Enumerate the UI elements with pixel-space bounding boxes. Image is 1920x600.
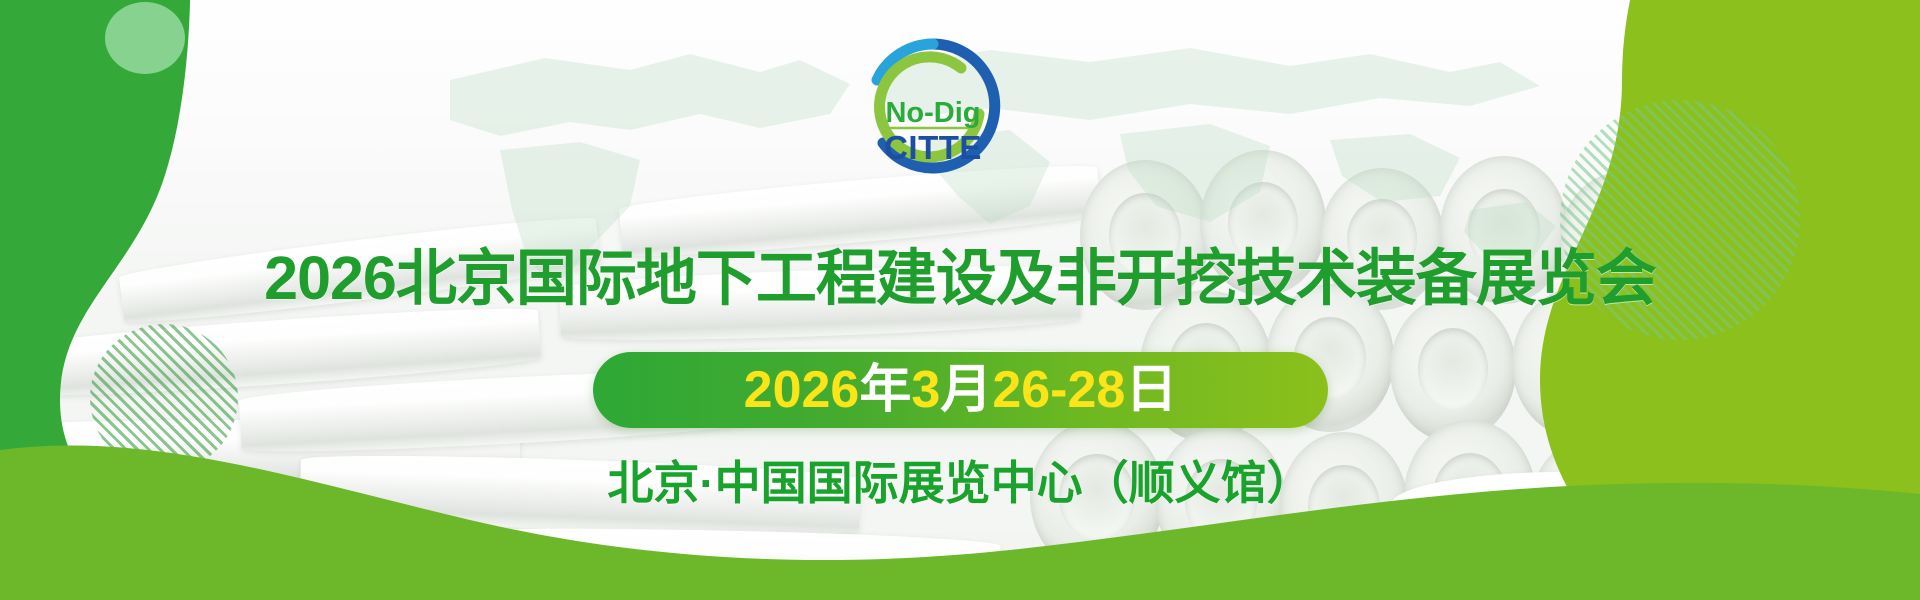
date-year-label: 年	[859, 361, 911, 419]
date-year: 2026	[744, 361, 860, 419]
logo-top-text: No-Dig	[885, 97, 980, 129]
pipe	[379, 525, 1000, 600]
decoration-circle-top-left	[105, 2, 185, 74]
logo-bottom-text: CITTE	[884, 129, 982, 166]
date-day-label: 日	[1125, 361, 1177, 419]
date-day-range: 26-28	[992, 361, 1125, 419]
event-date-text: 2026年3月26-28日	[744, 362, 1178, 418]
event-venue: 北京·中国国际展览中心（顺义馆）	[0, 455, 1920, 511]
date-month-label: 月	[940, 361, 992, 419]
no-dig-citte-logo: No-Dig CITTE	[843, 36, 1023, 184]
event-title: 2026北京国际地下工程建设及非开挖技术装备展览会	[0, 246, 1920, 310]
event-banner: No-Dig CITTE 2026北京国际地下工程建设及非开挖技术装备展览会 2…	[0, 0, 1920, 600]
decoration-hatch-circle-left	[90, 324, 238, 472]
date-month: 3	[911, 361, 940, 419]
event-date-badge: 2026年3月26-28日	[593, 352, 1328, 428]
